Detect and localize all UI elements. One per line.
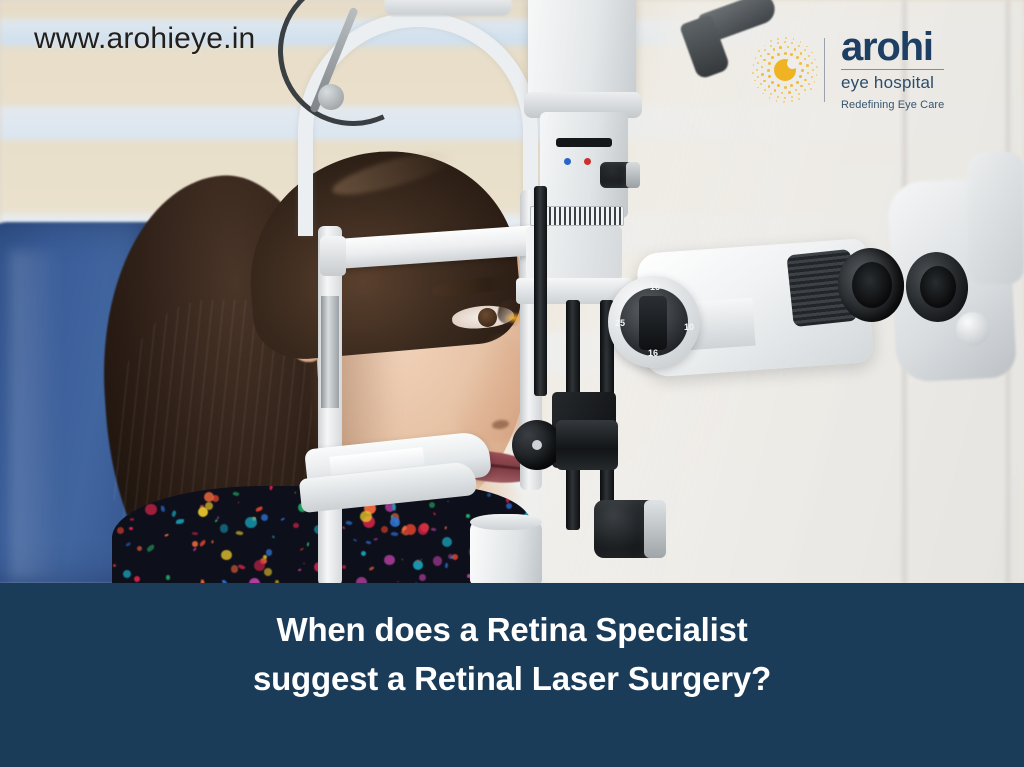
- red-filter-indicator: [584, 158, 591, 165]
- brand-subtitle: eye hospital: [841, 73, 944, 92]
- caption-line-2: suggest a Retinal Laser Surgery?: [0, 654, 1024, 703]
- sun-eye-logo-icon: [752, 37, 818, 103]
- filter-knob-cap: [626, 162, 640, 188]
- microscope-side-knob: [956, 312, 990, 346]
- chair-highlight: [10, 250, 62, 580]
- caption-text: When does a Retina Specialist suggest a …: [0, 605, 1024, 703]
- overhead-rod-cap: [318, 84, 344, 110]
- caption-line-1: When does a Retina Specialist: [0, 605, 1024, 654]
- logo-divider: [824, 38, 825, 102]
- dial-label-10: 10: [684, 322, 694, 332]
- patient-iris: [478, 308, 497, 327]
- logo-rule: [841, 69, 944, 70]
- sun-core: [774, 59, 796, 81]
- vertical-rod-upper: [534, 186, 547, 396]
- brand-name: arohi: [841, 27, 944, 67]
- blue-filter-indicator: [564, 158, 571, 165]
- clinic-photo: 16 25 10 16 www.arohieye.in arohi eye ho…: [0, 0, 1024, 584]
- slit-aperture: [556, 138, 612, 147]
- objective-cylinder-screw: [532, 440, 542, 450]
- magnification-dial-lever: [639, 296, 667, 350]
- dial-label-25: 25: [615, 318, 625, 328]
- caption-banner: When does a Retina Specialist suggest a …: [0, 583, 1024, 767]
- website-url-watermark: www.arohieye.in: [34, 22, 255, 56]
- dial-label-16-top: 16: [650, 282, 660, 292]
- upper-crossbar: [384, 0, 512, 16]
- objective-barrel: [556, 420, 618, 470]
- social-post-canvas: 16 25 10 16 www.arohieye.in arohi eye ho…: [0, 0, 1024, 767]
- focus-knob-cap: [644, 500, 666, 558]
- arohi-logo: arohi eye hospital Redefining Eye Care: [752, 22, 1004, 118]
- lower-housing-top: [470, 514, 542, 530]
- dial-label-16-bottom: 16: [648, 348, 658, 358]
- forehead-band-clip: [320, 236, 346, 276]
- eyepiece-left-lens: [852, 262, 892, 308]
- eyepiece-right-lens: [920, 266, 956, 308]
- logo-wordmark: arohi eye hospital Redefining Eye Care: [841, 27, 944, 113]
- instrument-arm-far: [968, 152, 1024, 284]
- brand-tagline: Redefining Eye Care: [841, 97, 944, 113]
- headrest-post-left-metal: [321, 296, 339, 408]
